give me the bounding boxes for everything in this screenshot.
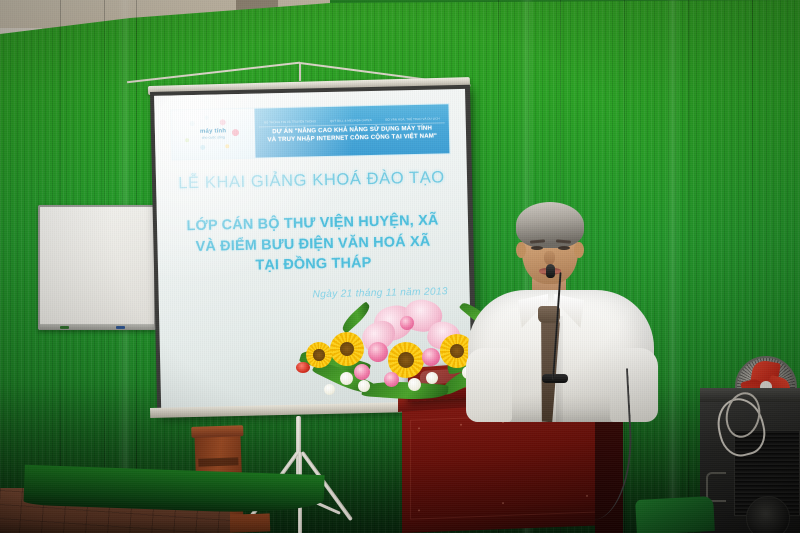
whiteboard-surface — [40, 207, 154, 324]
banner-partner-1: QUỸ BILL & MELINDA GATES — [330, 118, 372, 123]
pink-rose — [422, 348, 440, 366]
photo-scene: máy tính cho cuộc sống BỘ THÔNG TIN VÀ T… — [0, 0, 800, 533]
whiteboard-marker-tray — [40, 324, 154, 330]
banner-blue-bar: BỘ THÔNG TIN VÀ TRUYỀN THÔNG QUỸ BILL & … — [254, 104, 450, 157]
chair-slat — [198, 457, 238, 466]
red-flower — [296, 362, 310, 373]
nose — [544, 251, 555, 265]
left-arm — [466, 348, 512, 422]
screen-hanger-post — [299, 63, 301, 81]
marker-blue — [116, 326, 125, 329]
marker-green — [60, 326, 69, 329]
hair — [516, 202, 584, 248]
whiteboard — [38, 205, 156, 330]
ear-left — [516, 242, 526, 258]
ear-right — [574, 242, 584, 258]
yellow-gerbera — [306, 342, 332, 368]
pink-rose — [368, 342, 388, 362]
slide-body: LỚP CÁN BỘ THƯ VIỆN HUYỆN, XÃ VÀ ĐIỂM BƯ… — [166, 210, 460, 278]
slide-banner: máy tính cho cuộc sống BỘ THÔNG TIN VÀ T… — [170, 103, 451, 160]
eye-left — [531, 246, 543, 250]
banner-partner-0: BỘ THÔNG TIN VÀ TRUYỀN THÔNG — [264, 119, 316, 124]
pink-rose — [400, 316, 414, 330]
speaker-cone — [746, 496, 790, 533]
white-flower — [324, 384, 335, 395]
yellow-gerbera — [330, 332, 364, 366]
curtain-fold — [688, 0, 689, 533]
curtain-highlight — [666, 0, 680, 533]
eye-right — [558, 246, 570, 250]
project-logo: máy tính cho cuộc sống — [171, 109, 255, 159]
pink-rose — [384, 372, 399, 387]
pink-rose — [354, 364, 370, 380]
white-flower — [426, 372, 438, 384]
banner-project-title: DỰ ÁN "NÂNG CAO KHẢ NĂNG SỬ DỤNG MÁY TÍN… — [259, 124, 446, 144]
slide-title: LỄ KHAI GIẢNG KHOÁ ĐÀO TẠO — [168, 168, 454, 193]
white-flower — [340, 372, 353, 385]
logo-subtitle: cho cuộc sống — [202, 135, 225, 140]
banner-partner-2: BỘ VĂN HOÁ, THỂ THAO VÀ DU LỊCH — [385, 116, 439, 121]
white-flower — [408, 378, 421, 391]
microphone-head — [546, 264, 555, 278]
green-cloth-bottom-right — [635, 496, 715, 533]
white-flower — [358, 380, 370, 392]
chair-top-rail — [191, 425, 243, 438]
logo-word: máy tính — [200, 128, 226, 135]
